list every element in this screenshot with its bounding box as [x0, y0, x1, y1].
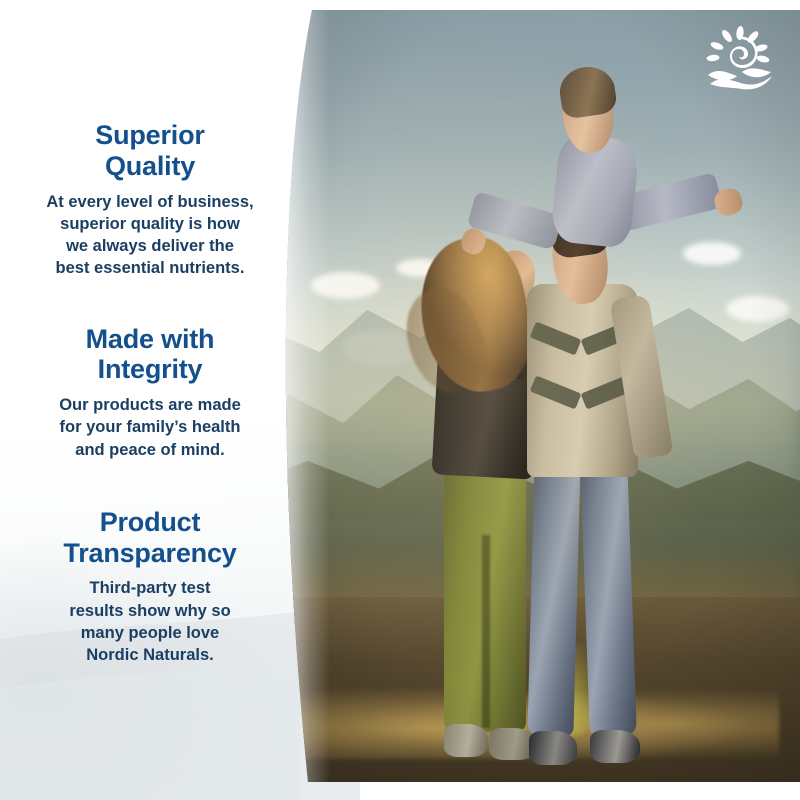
- father-right-leg: [580, 457, 636, 736]
- father-shoe: [529, 731, 577, 765]
- value-body: Our products are made for your family’s …: [20, 394, 280, 461]
- mother-shoe: [444, 724, 489, 756]
- value-heading: Made with Integrity: [20, 324, 280, 386]
- value-block-made-with-integrity: Made with Integrity Our products are mad…: [20, 324, 280, 461]
- family-lifestyle-photo: [268, 10, 800, 782]
- promotional-banner: Superior Quality At every level of busin…: [0, 0, 800, 800]
- jacket-chevron: [530, 376, 582, 411]
- value-block-product-transparency: Product Transparency Third-party test re…: [20, 507, 280, 667]
- father-shoe: [590, 730, 640, 764]
- value-heading: Superior Quality: [20, 120, 280, 182]
- family-group: [268, 10, 800, 782]
- mother-leg-gap: [482, 535, 491, 728]
- sun-waves-logo-icon: [704, 26, 776, 90]
- father-left-leg: [528, 457, 581, 736]
- value-body: Third-party test results show why so man…: [20, 577, 280, 666]
- photo-canvas: [268, 10, 800, 782]
- brand-values-list: Superior Quality At every level of busin…: [0, 0, 300, 800]
- value-body: At every level of business, superior qua…: [20, 191, 280, 280]
- jacket-chevron: [530, 322, 582, 357]
- value-block-superior-quality: Superior Quality At every level of busin…: [20, 120, 280, 280]
- value-heading: Product Transparency: [20, 507, 280, 569]
